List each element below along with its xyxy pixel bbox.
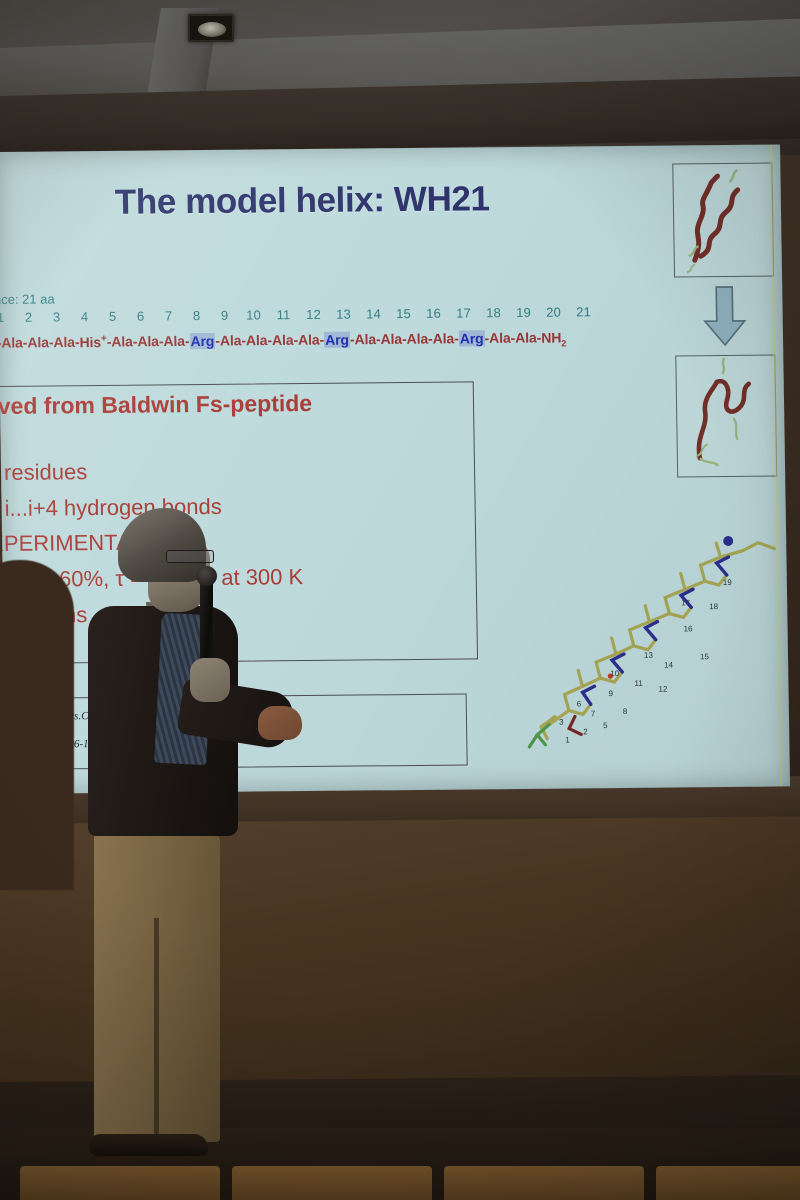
residue-2: Ala (1, 334, 23, 350)
residue-label: 17 (681, 598, 691, 607)
sequence-number: 2 (14, 310, 42, 325)
sequence-number: 21 (568, 304, 598, 319)
residue-label: 13 (644, 651, 654, 660)
residue-10: Ala (220, 332, 242, 348)
sequence-number: 19 (508, 305, 538, 320)
sequence-number: 11 (268, 307, 298, 322)
sequence-number: 13 (328, 307, 358, 322)
recessed-spotlight-icon (188, 14, 234, 42)
residue-label: 12 (658, 685, 668, 694)
sequence-number: 12 (298, 307, 328, 322)
residue-3: Ala (27, 334, 49, 350)
down-arrow-icon (700, 285, 749, 347)
residue-label: 15 (700, 652, 710, 661)
speaker-leg-crease (154, 918, 159, 1138)
residue-17: Ala (406, 331, 428, 347)
residue-label: 2 (583, 727, 588, 736)
sequence-number: 6 (126, 308, 154, 323)
residue-label: 8 (623, 707, 628, 716)
c-terminus: NH2 (541, 329, 566, 345)
speaker-figure (62, 498, 292, 1160)
residue-label: 1 (565, 736, 570, 745)
sequence-number: 1 (0, 310, 15, 325)
sequence-number: 16 (418, 306, 448, 321)
residue-5: His+ (79, 334, 107, 350)
sequence-number: 10 (238, 307, 268, 322)
sequence-number: 3 (42, 309, 70, 324)
residue-label: 19 (723, 578, 733, 587)
sequence-numbering: Ac123456789101112131415161718192021 (0, 304, 599, 325)
residue-18: Ala (433, 330, 455, 346)
seat-back (20, 1166, 220, 1200)
sequence-number: 15 (388, 306, 418, 321)
residue-15: Ala (354, 331, 376, 347)
sequence-number: 7 (154, 308, 182, 323)
sequence-number: 5 (98, 309, 126, 324)
sequence-number: 18 (478, 305, 508, 320)
residue-label: 11 (634, 679, 643, 688)
residue-label: 3 (559, 718, 564, 727)
residue-label: 16 (684, 624, 694, 633)
speaker-shoe (90, 1134, 208, 1156)
sequence-chain: Ac-Trp-Ala-Ala-Ala-His+-Ala-Ala-Ala-Arg-… (0, 329, 566, 354)
content-heading: Derived from Baldwin Fs-peptide (0, 390, 312, 420)
residue-label: 5 (603, 721, 608, 730)
helix-cartoon-icon (673, 164, 775, 279)
slide-title: The model helix: WH21 (114, 179, 489, 223)
speaker-pointing-hand (258, 706, 302, 740)
molecular-model-helix: 1 2 3 5 6 7 8 9 10 11 12 13 14 15 16 17 (522, 526, 790, 751)
residue-14: Arg (324, 331, 350, 347)
lecture-hall-photo: The model helix: WH21 Sequence: 21 aa Ac… (0, 0, 800, 1200)
residue-label: 9 (609, 689, 614, 698)
helix-cartoon-panel (672, 163, 774, 278)
seat-back (232, 1166, 432, 1200)
residue-label: 18 (709, 602, 719, 611)
sequence-number: 8 (182, 308, 210, 323)
residue-13: Ala (298, 332, 320, 348)
residue-4: Ala (53, 334, 75, 350)
sequence-number: 4 (70, 309, 98, 324)
sequence-number: 17 (448, 305, 478, 320)
residue-label: 6 (577, 699, 582, 708)
sequence-number: 20 (538, 305, 568, 320)
residue-label: 10 (610, 669, 620, 678)
sequence-number: 14 (358, 306, 388, 321)
residue-20: Ala (489, 330, 511, 346)
unfolded-coil-icon (676, 356, 778, 479)
residue-11: Ala (246, 332, 268, 348)
residue-21: Ala (515, 329, 537, 345)
sequence-number: 9 (210, 308, 238, 323)
seat-back (656, 1166, 800, 1200)
residue-7: Ala (137, 333, 159, 349)
speaker-glasses-icon (166, 550, 214, 563)
speaker-mic-hand (190, 658, 230, 702)
coil-cartoon-panel (675, 355, 777, 478)
microphone-head (196, 566, 217, 586)
speaker-hair (118, 508, 206, 582)
residue-12: Ala (272, 332, 294, 348)
residue-8: Ala (163, 333, 185, 349)
sequence-label: Sequence: 21 aa (0, 291, 55, 307)
spotlight-lens (198, 22, 226, 37)
seat-back (444, 1166, 644, 1200)
residue-label: 7 (591, 709, 596, 718)
residue-9: Arg (189, 333, 215, 349)
residue-label: 14 (664, 661, 674, 670)
residue-16: Ala (380, 331, 402, 347)
residue-6: Ala (111, 333, 133, 349)
residue-19: Arg (459, 330, 485, 346)
bullet-residues: - 21 residues (0, 452, 302, 491)
